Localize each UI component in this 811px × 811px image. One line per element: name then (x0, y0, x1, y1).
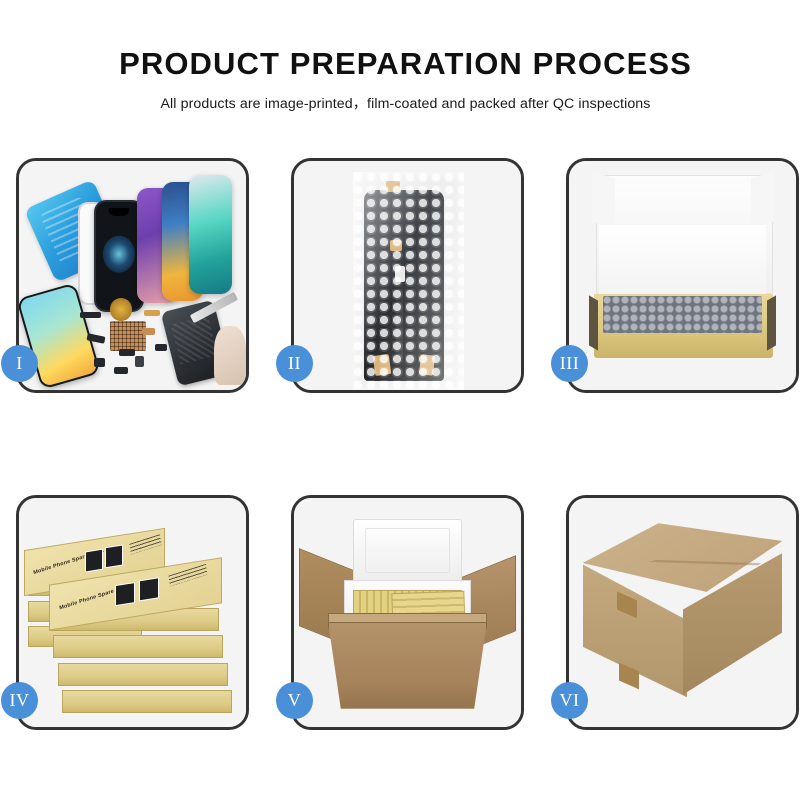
component-icon (135, 356, 144, 367)
step-badge-6: VI (551, 682, 588, 719)
component-icon (114, 367, 128, 374)
step-5-image (294, 498, 521, 727)
foam-box-lid (353, 519, 462, 583)
page-subtitle: All products are image-printed，film-coat… (0, 93, 811, 113)
step-4-image: Mobile Phone Spare Parts Mobile Phone Sp… (19, 498, 246, 727)
step-badge-2: II (276, 345, 313, 382)
hand-icon (214, 326, 246, 386)
plastic-sheen (353, 172, 464, 390)
header: PRODUCT PREPARATION PROCESS All products… (0, 0, 811, 113)
box-spec-lines (129, 535, 161, 556)
box-lid-flap-left (592, 171, 615, 228)
process-step-4: Mobile Phone Spare Parts Mobile Phone Sp… (16, 495, 249, 730)
retail-box (53, 635, 223, 658)
process-step-2: II (291, 158, 524, 393)
box-window (105, 544, 123, 568)
chip-array-icon (110, 321, 146, 351)
kraft-tray-side-right (767, 296, 776, 352)
step-badge-4: IV (1, 682, 38, 719)
component-icon (119, 349, 135, 356)
step-1-image (19, 161, 246, 390)
page-title: PRODUCT PREPARATION PROCESS (0, 46, 811, 82)
process-step-1: I (16, 158, 249, 393)
foam-liner (599, 225, 767, 301)
box-lid-flap-right (751, 171, 774, 228)
bubble-wrap-scene (294, 161, 521, 390)
open-foam-box-scene (569, 161, 796, 390)
step-badge-5: V (276, 682, 313, 719)
retail-box (58, 663, 228, 686)
open-carton-scene (294, 498, 521, 727)
retail-box-stack: Mobile Phone Spare Parts Mobile Phone Sp… (19, 498, 246, 727)
kraft-tray-side-left (589, 296, 598, 352)
process-step-6: VI (566, 495, 799, 730)
bubble-wrap-bag (353, 172, 464, 390)
bubble-wrapped-product (603, 296, 762, 333)
process-step-3: III (566, 158, 799, 393)
box-spec-lines (168, 564, 207, 587)
box-window (138, 577, 158, 601)
step-3-image (569, 161, 796, 390)
component-icon (142, 328, 156, 335)
retail-box (62, 690, 232, 713)
box-window (114, 582, 134, 606)
component-icon (155, 344, 166, 351)
sealed-carton-scene (569, 498, 796, 727)
component-icon (80, 312, 100, 318)
process-step-5: V (291, 495, 524, 730)
process-step-grid: I (16, 158, 798, 730)
wireless-coil-icon (110, 298, 133, 321)
component-icon (144, 310, 160, 316)
component-icon (94, 358, 105, 367)
teal-phone-icon (189, 175, 232, 294)
step-2-image (294, 161, 521, 390)
step-badge-1: I (1, 345, 38, 382)
step-6-image (569, 498, 796, 727)
box-window (84, 549, 102, 573)
step-badge-3: III (551, 345, 588, 382)
parts-collage-scene (19, 161, 246, 390)
infographic-page: PRODUCT PREPARATION PROCESS All products… (0, 0, 811, 811)
carton-body (328, 622, 487, 709)
